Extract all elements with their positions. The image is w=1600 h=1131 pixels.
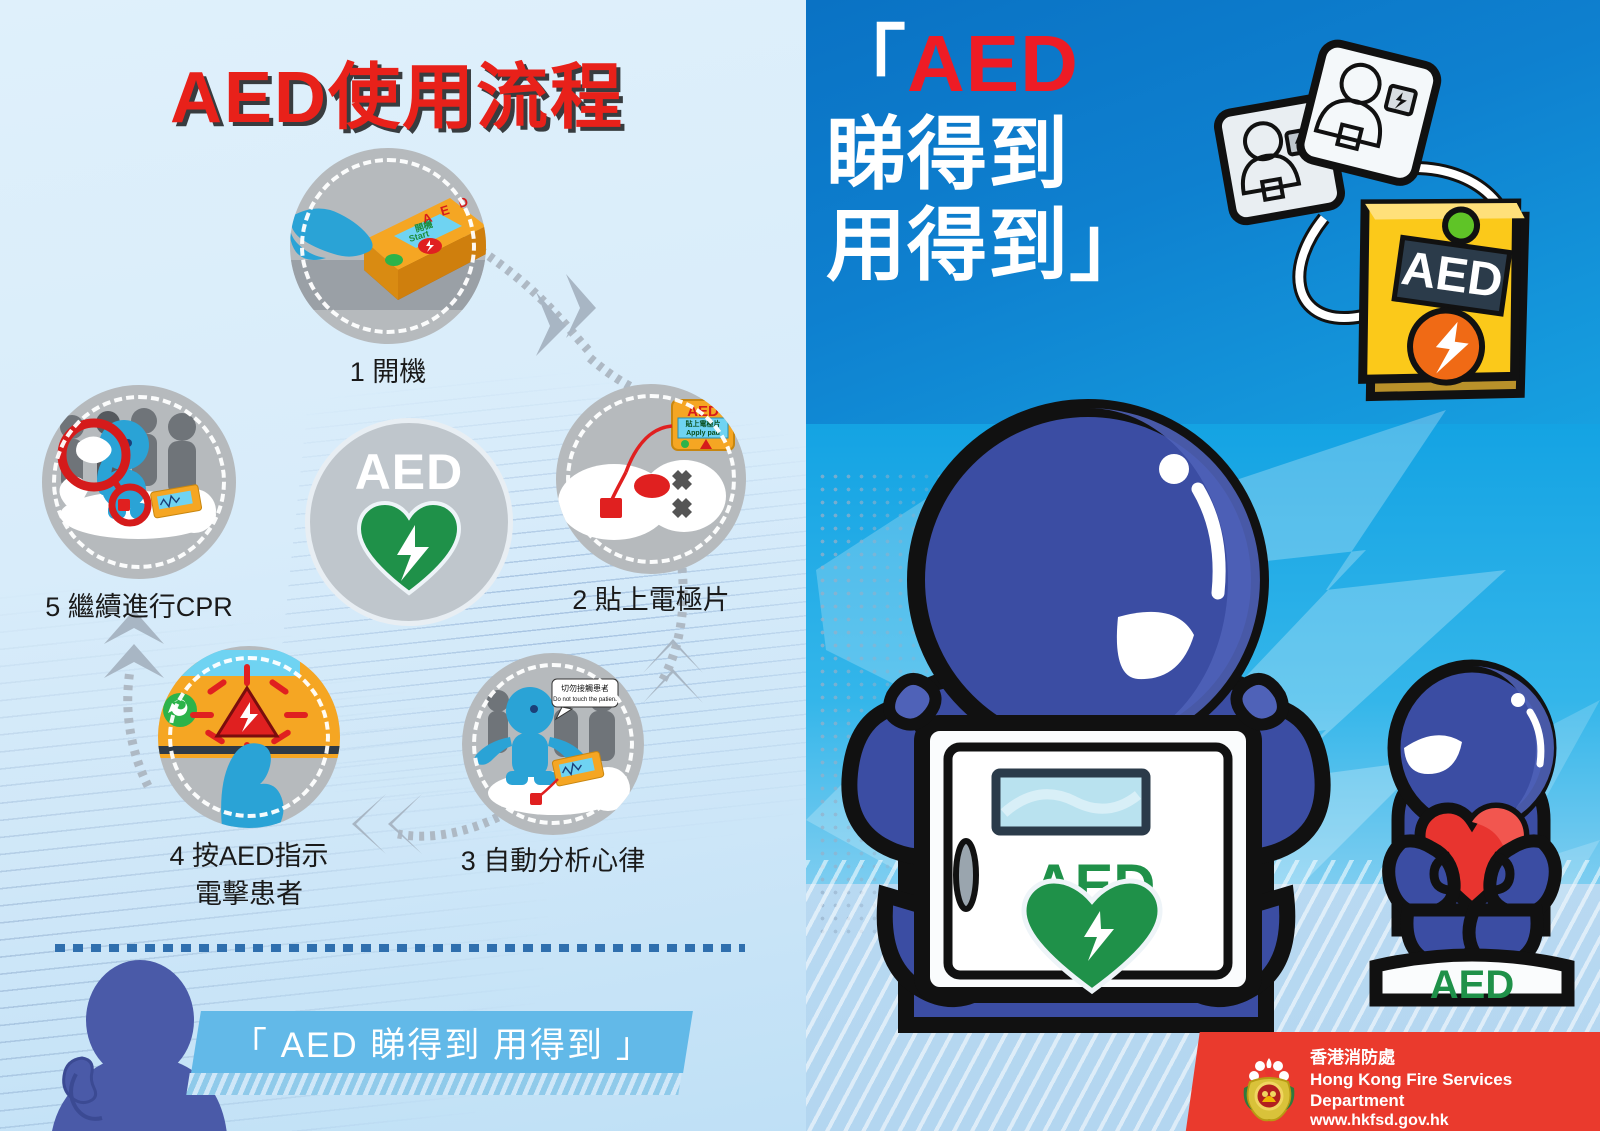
- bottom-banner-text: 「 AED 睇得到 用得到 」: [232, 1017, 653, 1068]
- step-4-illustration: [158, 646, 340, 828]
- step-5-label: 5 繼續進行CPR: [45, 591, 233, 624]
- step-1[interactable]: A E D 開機 Start 1 開機: [290, 148, 486, 344]
- footer-org-cn: 香港消防處: [1310, 1047, 1600, 1068]
- step-1-label: 1 開機: [350, 356, 427, 389]
- center-badge-text: AED: [355, 447, 464, 497]
- dotted-divider: [55, 944, 745, 952]
- aed-heart-icon: [355, 501, 463, 597]
- bottom-banner-hatch: [186, 1073, 681, 1095]
- headline-line-3-text: 用得到: [826, 201, 1069, 290]
- center-aed-badge: AED: [305, 418, 513, 626]
- mascot-large: AED: [826, 405, 1346, 1025]
- pedestal-aed-label: AED: [1430, 963, 1514, 1007]
- step-2-illustration: AED 貼上電極片 Apply pad: [556, 384, 746, 574]
- poster-root: AED使用流程: [0, 0, 1600, 1131]
- step-3-label: 3 自動分析心律: [461, 845, 646, 878]
- aed-wall-unit-illustration: AED: [1164, 18, 1584, 438]
- step-2-label: 2 貼上電極片: [572, 584, 730, 617]
- footer-content: 香港消防處 Hong Kong Fire Services Department…: [1240, 1049, 1600, 1129]
- step-5-illustration: [42, 385, 236, 579]
- step-4-label: 4 按AED指示: [169, 840, 328, 873]
- step-4-label-line2: 電擊患者: [195, 878, 303, 911]
- footer-org-en: Hong Kong Fire Services Department: [1310, 1069, 1600, 1111]
- headline-open-bracket: 「: [826, 19, 907, 108]
- step-3[interactable]: 切勿接觸患者 Do not touch the patient 3 自動分析心律: [462, 653, 644, 835]
- step-3-illustration: 切勿接觸患者 Do not touch the patient: [462, 653, 644, 835]
- mascot-small: AED: [1346, 660, 1596, 1000]
- step3-bubble-en: Do not touch the patient: [553, 697, 617, 703]
- step-1-illustration: A E D 開機 Start: [290, 148, 486, 344]
- step3-bubble-cn: 切勿接觸患者: [561, 683, 609, 693]
- step2-device-brand: AED: [687, 403, 719, 420]
- step-2[interactable]: AED 貼上電極片 Apply pad 2 貼上: [556, 384, 746, 574]
- page-title: AED使用流程: [170, 38, 650, 143]
- headline-aed: AED: [907, 19, 1079, 108]
- step-5[interactable]: 5 繼續進行CPR: [42, 385, 236, 579]
- headline-close-bracket: 」: [1069, 201, 1150, 290]
- step2-screen-line2: Apply pad: [686, 430, 720, 437]
- footer-text-block: 香港消防處 Hong Kong Fire Services Department…: [1310, 1047, 1600, 1130]
- left-panel: AED使用流程: [0, 0, 806, 1131]
- right-panel: 「AED 睇得到 用得到」: [806, 0, 1600, 1131]
- footer-url[interactable]: www.hkfsd.gov.hk: [1310, 1111, 1600, 1131]
- bottom-banner: 「 AED 睇得到 用得到 」: [191, 1011, 693, 1073]
- hkfsd-crest-icon: [1240, 1056, 1298, 1122]
- step2-screen-line1: 貼上電極片: [685, 419, 721, 428]
- step-4[interactable]: 4 按AED指示 電擊患者: [158, 646, 340, 828]
